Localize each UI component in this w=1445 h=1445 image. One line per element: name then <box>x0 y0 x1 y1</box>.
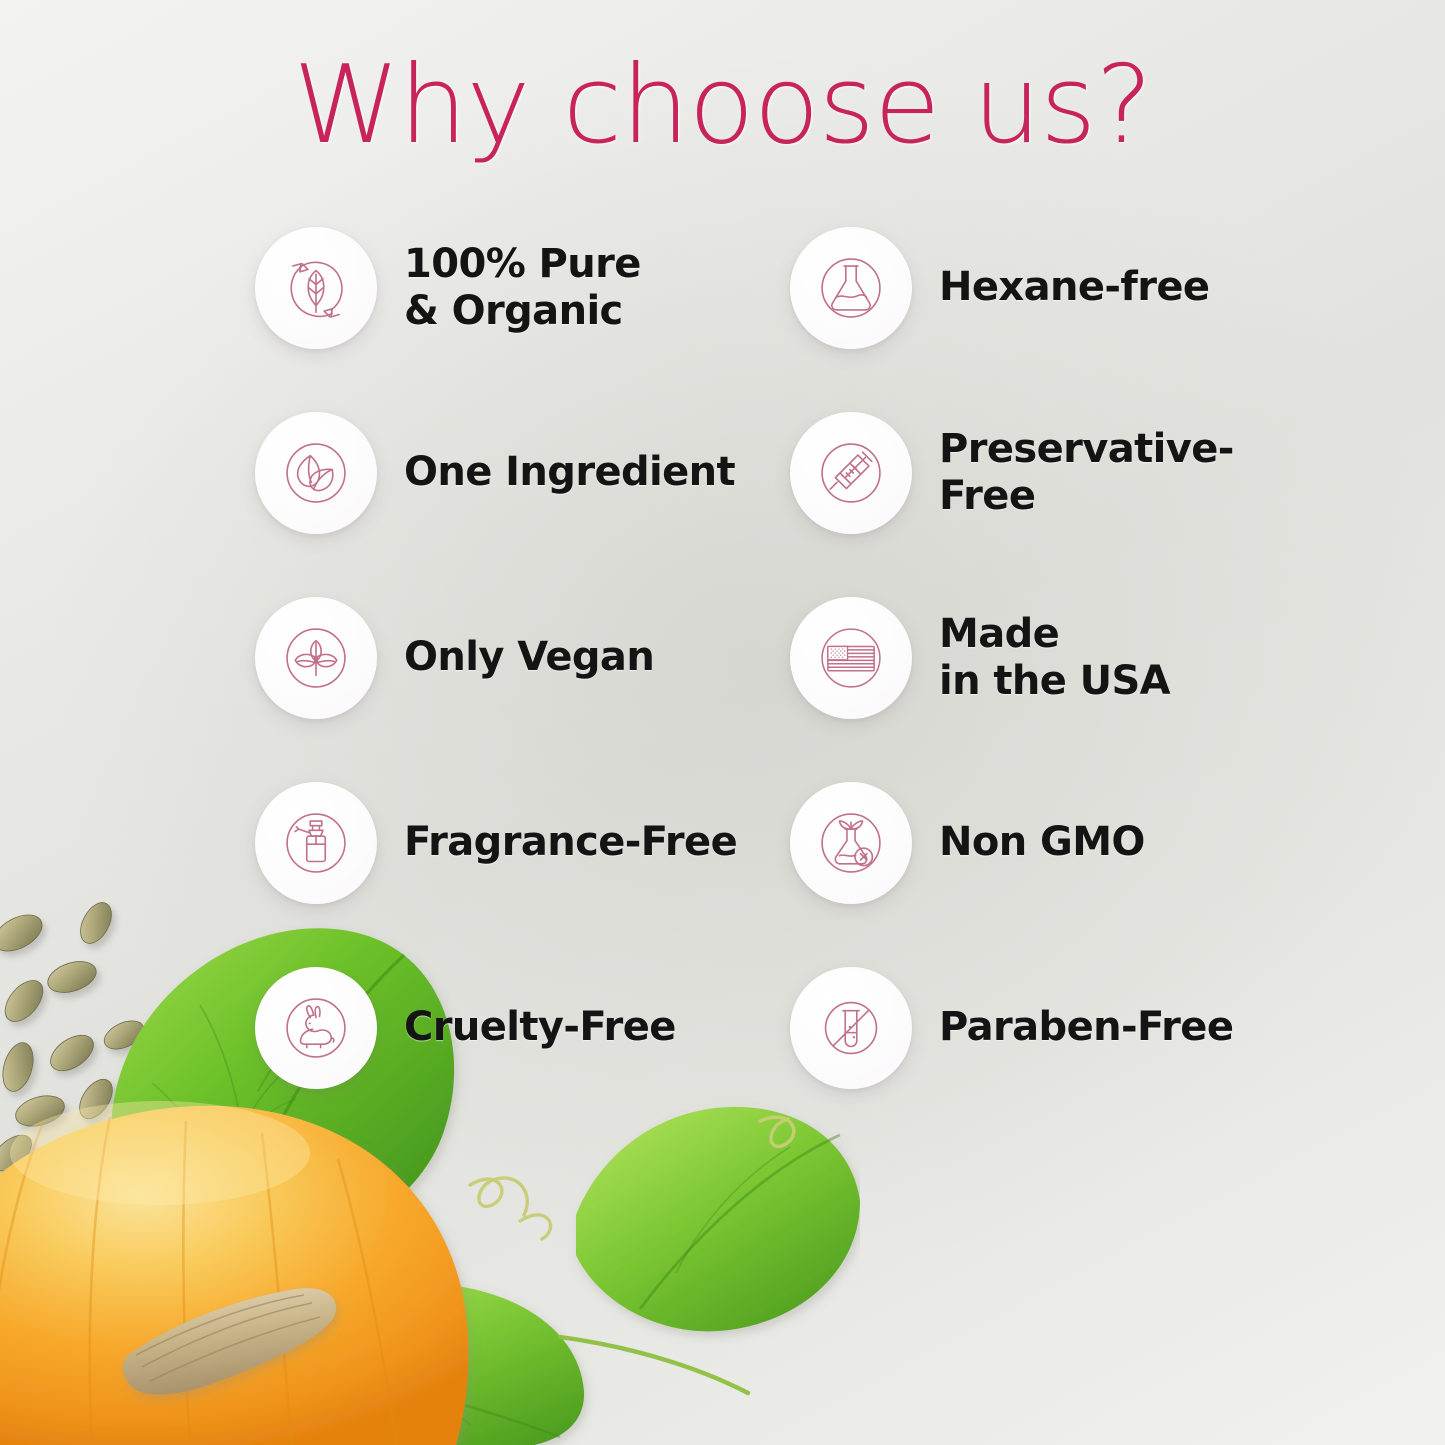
page-title: Why choose us? <box>0 48 1445 165</box>
flask-icon <box>790 227 912 349</box>
feature-label: Paraben-Free <box>939 1004 1233 1050</box>
feature-label: One Ingredient <box>404 449 735 495</box>
syringe-icon <box>790 412 912 534</box>
feature-label: Preservative- Free <box>939 426 1234 519</box>
feature-label: Cruelty-Free <box>404 1004 676 1050</box>
feature-label: Only Vegan <box>404 634 654 680</box>
two-seeds-icon <box>255 412 377 534</box>
pumpkin <box>0 1101 469 1445</box>
feature-item-hexane-free: Hexane-free <box>790 195 1445 380</box>
feature-label: Hexane-free <box>939 264 1209 310</box>
feature-item-pure-organic: 100% Pure & Organic <box>255 195 790 380</box>
test-tube-prohibited-icon <box>790 967 912 1089</box>
rabbit-icon <box>255 967 377 1089</box>
feature-item-made-in-usa: Made in the USA <box>790 565 1445 750</box>
feature-item-fragrance-free: Fragrance-Free <box>255 750 790 935</box>
vine-tendril <box>70 1117 794 1393</box>
feature-label: Made in the USA <box>939 611 1170 704</box>
feature-item-non-gmo: Non GMO <box>790 750 1445 935</box>
feature-item-one-ingredient: One Ingredient <box>255 380 790 565</box>
feature-item-cruelty-free: Cruelty-Free <box>255 935 790 1120</box>
recycle-leaf-icon <box>255 227 377 349</box>
feature-label: 100% Pure & Organic <box>404 241 641 334</box>
feature-item-paraben-free: Paraben-Free <box>790 935 1445 1120</box>
pumpkin-stem <box>123 1288 336 1394</box>
spray-bottle-icon <box>255 782 377 904</box>
feature-item-preservative-free: Preservative- Free <box>790 380 1445 565</box>
usa-flag-icon <box>790 597 912 719</box>
infographic-canvas: Why choose us? 100% Pure & Organic <box>0 0 1445 1445</box>
feature-label: Fragrance-Free <box>404 819 737 865</box>
plant-sprout-icon <box>255 597 377 719</box>
feature-grid: 100% Pure & Organic Hexane-free <box>0 195 1445 1120</box>
feature-label: Non GMO <box>939 819 1145 865</box>
gmo-flask-crossed-icon <box>790 782 912 904</box>
feature-item-only-vegan: Only Vegan <box>255 565 790 750</box>
